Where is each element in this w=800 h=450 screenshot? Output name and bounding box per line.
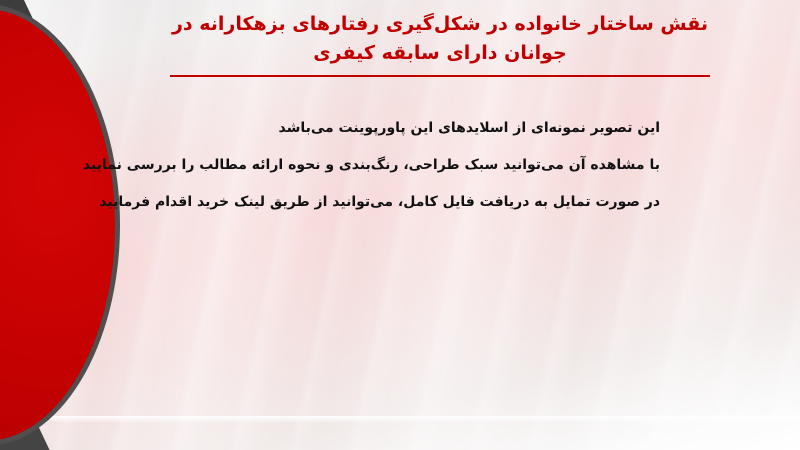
body-line-3: در صورت تمایل به دریافت فایل کامل، می‌تو… [120,192,660,213]
slide-title-block: نقش ساختار خانواده در شکل‌گیری رفتارهای … [110,10,770,77]
presentation-slide: نقش ساختار خانواده در شکل‌گیری رفتارهای … [0,0,800,450]
body-line-2: با مشاهده آن می‌توانید سبک طراحی، رنگ‌بن… [120,155,660,176]
body-line-1: این تصویر نمونه‌ای از اسلایدهای این پاور… [120,118,660,139]
slide-title-line-1: نقش ساختار خانواده در شکل‌گیری رفتارهای … [172,13,708,35]
slide-title-line-2: جوانان دارای سابقه کیفری [313,42,566,64]
slide-title: نقش ساختار خانواده در شکل‌گیری رفتارهای … [110,10,770,69]
title-underline [170,75,710,77]
slide-body-block: این تصویر نمونه‌ای از اسلایدهای این پاور… [120,118,660,213]
